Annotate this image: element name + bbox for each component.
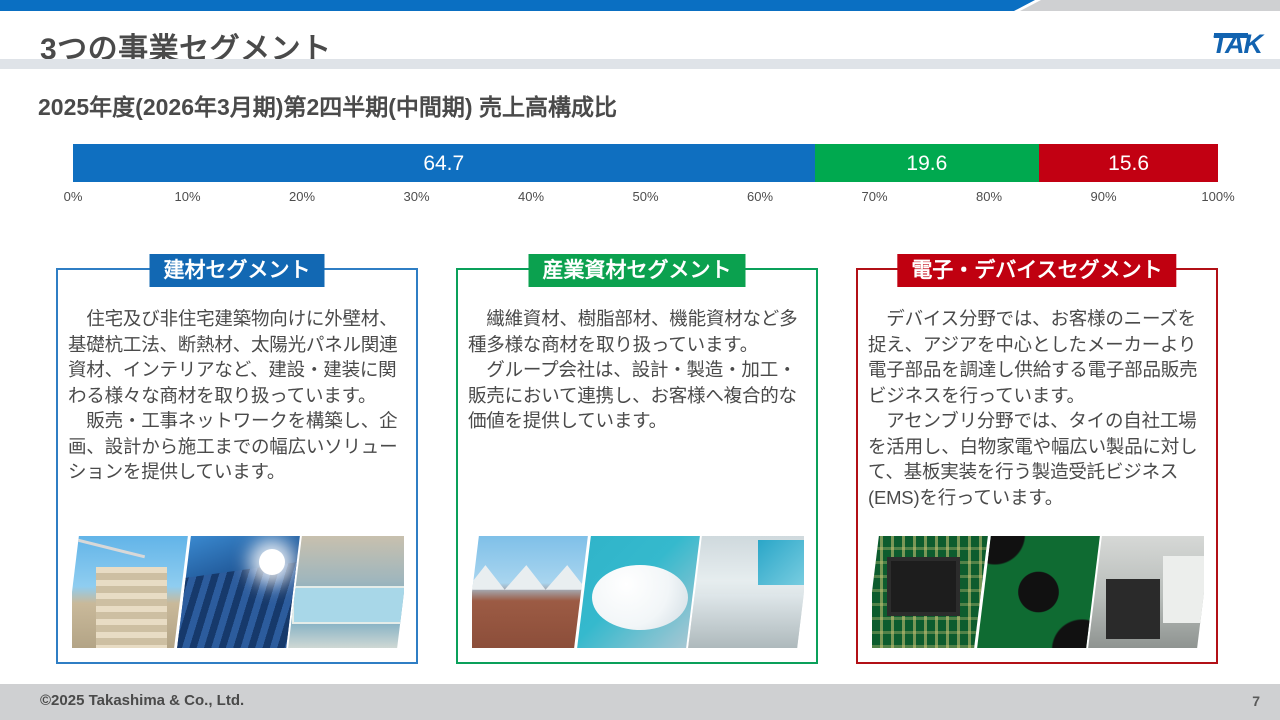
x-tick-100: 100% — [1201, 189, 1234, 204]
segment-cards: 建材セグメント 住宅及び非住宅建築物向けに外壁材、基礎杭工法、断熱材、太陽光パネ… — [0, 252, 1280, 664]
rooftop-waterproofing-photo — [288, 536, 404, 648]
stacked-bar: 64.7 19.6 15.6 — [73, 144, 1218, 182]
top-accent-stripe — [0, 0, 1280, 11]
slide-footer: ©2025 Takashima & Co., Ltd. 7 — [0, 684, 1280, 720]
segment-card-body: デバイス分野では、お客様のニーズを捉え、アジアを中心としたメーカーより電子部品を… — [868, 306, 1208, 510]
segment-card-body: 繊維資材、樹脂部材、機能資材など多種多様な商材を取り扱っています。 グループ会社… — [468, 306, 808, 434]
header-underline — [0, 59, 1280, 69]
circuit-board-photo — [872, 536, 988, 648]
pcb-assembly-photo — [977, 536, 1099, 648]
segment-card-heading: 建材セグメント — [150, 254, 325, 287]
company-logo: TAK — [1212, 31, 1263, 58]
segment-card-kenzai: 建材セグメント 住宅及び非住宅建築物向けに外壁材、基礎杭工法、断熱材、太陽光パネ… — [56, 268, 418, 664]
store-interior-photo — [688, 536, 804, 648]
segment-card-sangyo: 産業資材セグメント 繊維資材、樹脂部材、機能資材など多種多様な商材を取り扱ってい… — [456, 268, 818, 664]
copyright-text: ©2025 Takashima & Co., Ltd. — [40, 692, 244, 709]
segment-card-heading: 電子・デバイスセグメント — [897, 254, 1176, 287]
solar-panel-photo — [177, 536, 299, 648]
membrane-tent-photo — [472, 536, 588, 648]
top-stripe-blue — [0, 0, 1035, 11]
x-tick-0: 0% — [64, 189, 83, 204]
x-tick-90: 90% — [1090, 189, 1116, 204]
x-axis-ticks: 0%10%20%30%40%50%60%70%80%90%100% — [73, 189, 1218, 211]
x-tick-70: 70% — [861, 189, 887, 204]
construction-building-photo — [72, 536, 188, 648]
slide-header: 3つの事業セグメント TAK — [0, 11, 1280, 59]
composition-bar-chart: 64.7 19.6 15.6 0%10%20%30%40%50%60%70%80… — [73, 144, 1218, 211]
segment-card-heading: 産業資材セグメント — [529, 254, 746, 287]
logo-bar-mark — [1214, 33, 1248, 38]
top-stripe-gray — [1020, 0, 1280, 11]
x-tick-50: 50% — [632, 189, 658, 204]
x-tick-80: 80% — [976, 189, 1002, 204]
bar-segment-kenzai: 64.7 — [73, 144, 815, 182]
segment-photo-strip — [472, 536, 804, 648]
chart-subtitle: 2025年度(2026年3月期)第2四半期(中間期) 売上高構成比 — [38, 88, 617, 122]
bar-segment-denshi: 15.6 — [1039, 144, 1218, 182]
x-tick-30: 30% — [403, 189, 429, 204]
x-tick-10: 10% — [174, 189, 200, 204]
x-tick-20: 20% — [289, 189, 315, 204]
segment-photo-strip — [72, 536, 404, 648]
resin-material-photo — [577, 536, 699, 648]
x-tick-60: 60% — [747, 189, 773, 204]
segment-card-denshi: 電子・デバイスセグメント デバイス分野では、お客様のニーズを捉え、アジアを中心と… — [856, 268, 1218, 664]
page-number: 7 — [1252, 693, 1260, 709]
segment-card-body: 住宅及び非住宅建築物向けに外壁材、基礎杭工法、断熱材、太陽光パネル関連資材、イン… — [68, 306, 408, 485]
bar-segment-sangyo: 19.6 — [815, 144, 1040, 182]
factory-line-photo — [1088, 536, 1204, 648]
x-tick-40: 40% — [518, 189, 544, 204]
segment-photo-strip — [872, 536, 1204, 648]
